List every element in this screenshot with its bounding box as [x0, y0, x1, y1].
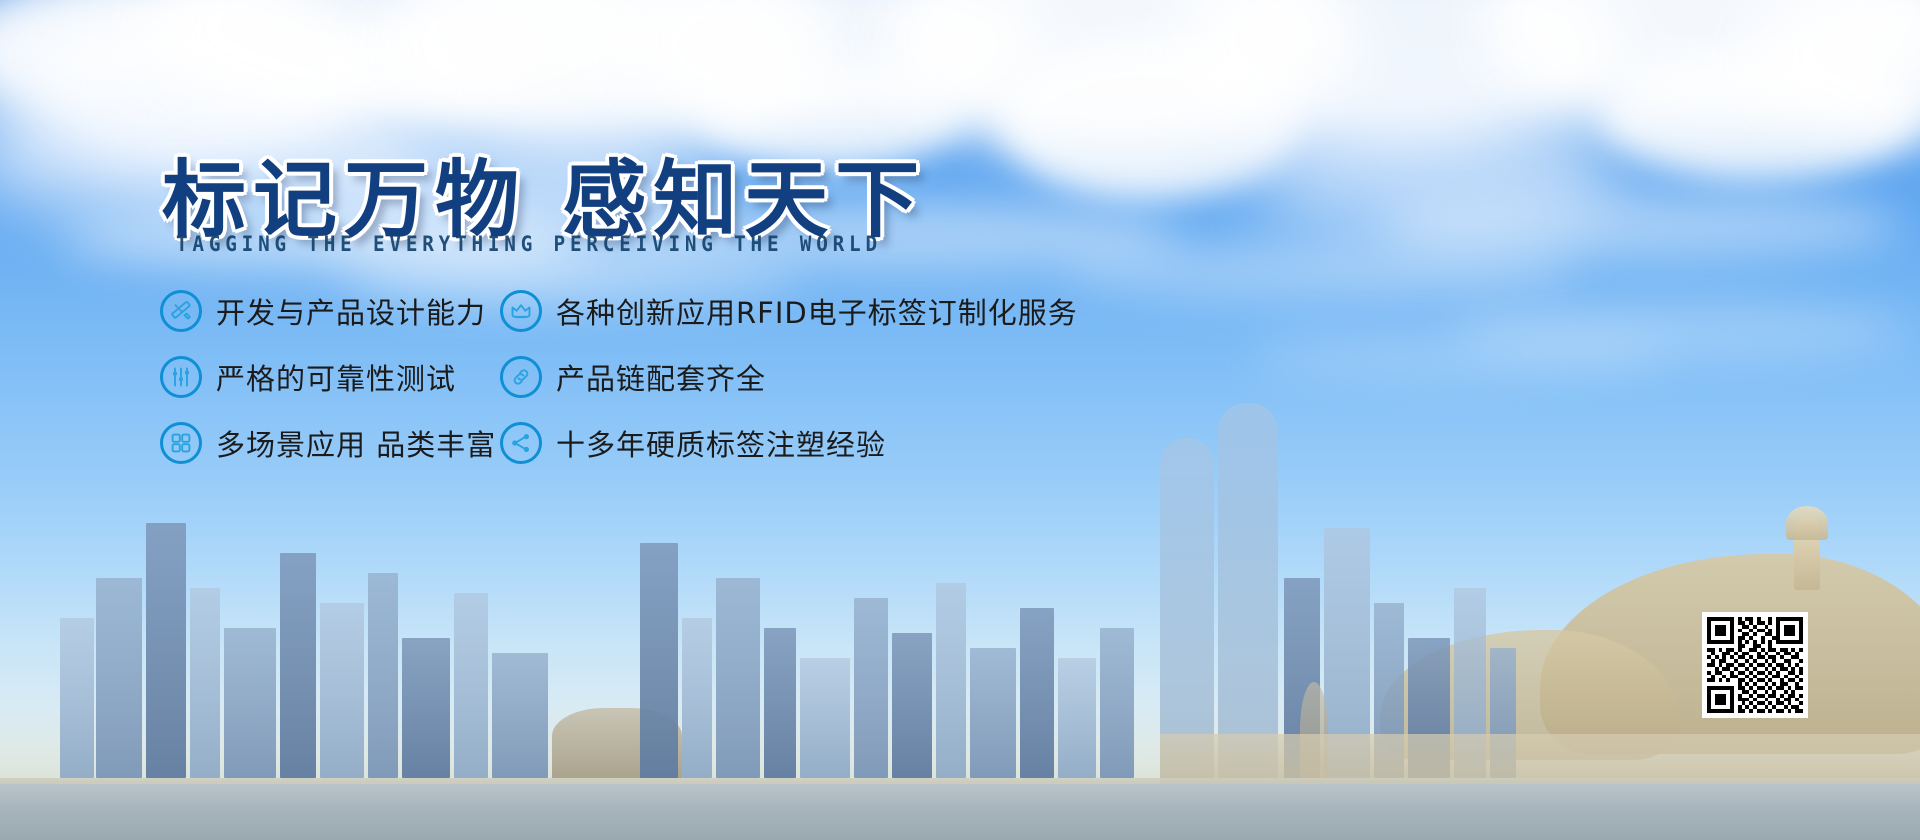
share-nodes-icon [500, 422, 542, 464]
subheadline: TAGGING THE EVERYTHING PERCEIVING THE WO… [176, 232, 882, 256]
feature-item-3[interactable]: 严格的可靠性测试 [160, 356, 456, 398]
feature-label-4: 产品链配套齐全 [556, 356, 766, 398]
feature-label-5: 多场景应用 品类丰富 [216, 422, 496, 464]
feature-item-1[interactable]: 开发与产品设计能力 [160, 290, 486, 332]
feature-label-2: 各种创新应用RFID电子标签订制化服务 [556, 290, 1078, 332]
feature-label-1: 开发与产品设计能力 [216, 290, 486, 332]
qr-code-matrix [1707, 617, 1803, 713]
promo-banner: 标记万物 感知天下 TAGGING THE EVERYTHING PERCEIV… [0, 0, 1920, 840]
crown-icon [500, 290, 542, 332]
sliders-icon [160, 356, 202, 398]
feature-item-2[interactable]: 各种创新应用RFID电子标签订制化服务 [500, 290, 1078, 332]
feature-item-6[interactable]: 十多年硬质标签注塑经验 [500, 422, 886, 464]
qr-code[interactable] [1702, 612, 1808, 718]
feature-label-3: 严格的可靠性测试 [216, 356, 456, 398]
feature-item-5[interactable]: 多场景应用 品类丰富 [160, 422, 496, 464]
city-skyline [0, 420, 1920, 840]
feature-label-6: 十多年硬质标签注塑经验 [556, 422, 886, 464]
grid-squares-icon [160, 422, 202, 464]
feature-item-4[interactable]: 产品链配套齐全 [500, 356, 766, 398]
ruler-pen-icon [160, 290, 202, 332]
chain-link-icon [500, 356, 542, 398]
